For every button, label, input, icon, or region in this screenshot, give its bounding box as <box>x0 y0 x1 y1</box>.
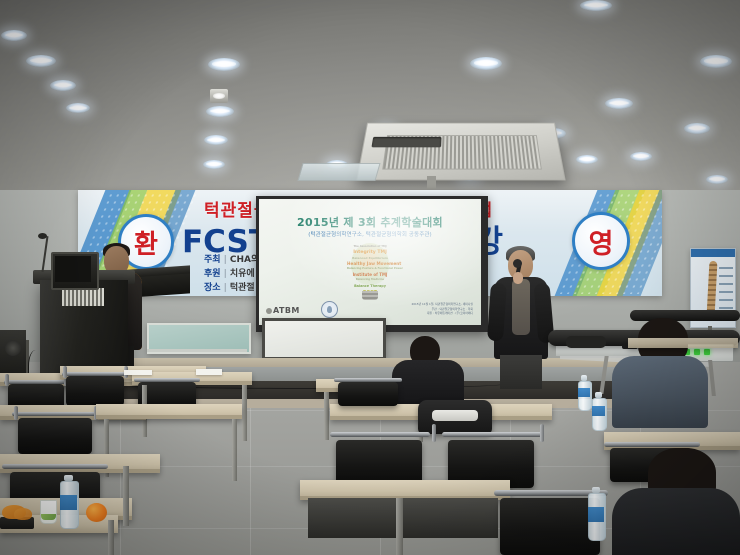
banner-meta-sep: | <box>224 283 227 293</box>
ceiling-downlight <box>700 55 732 68</box>
banner-meta-row: 후원|치유에 <box>204 266 255 279</box>
bottle-cap <box>595 392 602 398</box>
ceiling-downlight <box>206 106 234 117</box>
chair-rail <box>4 380 68 384</box>
desk-leg <box>108 520 114 555</box>
banner-meta-value: 턱관절 <box>230 283 255 293</box>
water-bottle <box>588 487 604 539</box>
banner-meta-value: CHA의 <box>230 255 259 265</box>
water-bottle <box>578 375 590 408</box>
ceiling-downlight <box>630 152 652 161</box>
slide-surface: 2015년 제 3회 추계학술대회 (턱관절균형의학연구소, 턱관절균형의학회 … <box>259 199 481 325</box>
water-bottle <box>60 475 77 527</box>
bottle-label <box>592 406 605 417</box>
poster-label-line <box>719 267 733 269</box>
chair-rail <box>12 412 98 416</box>
water-bottle <box>592 392 605 428</box>
chair-post <box>432 424 436 442</box>
desk-leg <box>232 419 237 481</box>
spine-illustration-icon <box>707 261 718 317</box>
poster-label-line <box>719 291 733 293</box>
banner-meta-key: 주최 <box>204 255 221 265</box>
poster-label-line <box>719 299 733 301</box>
chair-rail <box>62 372 128 376</box>
desk-leg <box>396 498 403 555</box>
chair-rail <box>2 464 108 469</box>
chair-rail <box>334 378 402 382</box>
bottle-cap <box>592 487 601 493</box>
chair-back <box>18 418 92 454</box>
bottle-cap <box>581 375 588 381</box>
speaker-cone-icon <box>5 340 21 356</box>
orange-fruit <box>86 503 107 522</box>
ceiling-downlight <box>203 160 225 169</box>
chair-post <box>14 406 18 420</box>
ac-vane <box>371 137 441 147</box>
banner-meta-row: 장소|턱관절 <box>204 280 255 293</box>
bottle-label <box>588 507 604 523</box>
podium-monitor-screen <box>55 256 91 282</box>
ceiling-downlight <box>1 30 27 41</box>
ceiling-downlight <box>208 58 240 71</box>
banner-meta-value: 치유에 <box>230 269 255 279</box>
paper-sheet <box>124 370 152 375</box>
treatment-table-segment <box>566 336 606 348</box>
podium-front-panel <box>62 288 104 306</box>
desk-leg <box>324 392 329 440</box>
status-led <box>704 349 710 355</box>
projection-screen: 2015년 제 3회 추계학술대회 (턱관절균형의학연구소, 턱관절균형의학회 … <box>256 196 488 332</box>
ceiling-downlight <box>576 155 598 164</box>
bottle-cap <box>64 475 74 481</box>
poster-header-bar <box>691 249 735 257</box>
banner-right-circle-emblem: 영 <box>572 212 630 270</box>
poster-label-line <box>719 307 733 309</box>
chair-post <box>540 424 544 442</box>
banner-meta-key: 장소 <box>204 283 221 293</box>
podium-microphone-head <box>38 233 47 239</box>
ceiling-downlight <box>706 175 728 184</box>
microphone-head <box>513 259 522 268</box>
speaker-sweater <box>512 279 530 335</box>
audience-body-foreground <box>612 488 740 555</box>
ceiling-downlight <box>50 80 76 91</box>
desk <box>300 480 510 500</box>
chair-rail <box>134 378 200 382</box>
status-led <box>694 349 700 355</box>
desk <box>96 404 242 419</box>
ceiling-downlight <box>605 98 633 109</box>
chair-rail <box>442 432 542 437</box>
ceiling-downlight <box>580 0 612 11</box>
paper-cup <box>40 500 57 524</box>
screen-glare <box>259 199 481 325</box>
ceiling-downlight <box>204 135 228 145</box>
chair-back <box>500 498 600 555</box>
ceiling-downlight <box>26 55 56 67</box>
chair-rail <box>330 432 430 437</box>
audience-body-blue-shirt <box>612 356 708 428</box>
chair-back <box>338 382 398 406</box>
poster-label-line <box>719 283 733 285</box>
speaker-hand <box>513 272 523 284</box>
speaker-legs <box>500 355 542 389</box>
treatment-table-rear <box>630 310 740 321</box>
desk-modesty-panel <box>308 498 498 538</box>
chair-post <box>5 374 9 386</box>
bottle-label <box>60 495 77 511</box>
ceiling-panel <box>297 163 380 181</box>
whiteboard <box>262 318 386 360</box>
paper-sheet <box>196 369 222 375</box>
ceiling-downlight <box>66 103 90 113</box>
backpack-strap <box>432 410 478 421</box>
banner-meta-sep: | <box>224 269 227 279</box>
orange-peel <box>14 508 32 520</box>
ceiling-speaker <box>210 89 228 103</box>
side-desk <box>628 338 738 348</box>
air-conditioner-unit <box>356 123 565 181</box>
chair-post <box>63 366 67 378</box>
poster-label-line <box>719 275 733 277</box>
desk-leg <box>123 466 129 526</box>
banner-meta-row: 주최|CHA의 <box>204 252 259 265</box>
lecture-hall-photo: 환 영 턱관절을 FCST전 요법 특강 의학회 주최|CHA의 후원|치유에 … <box>0 0 740 555</box>
chair-rail <box>604 442 700 447</box>
ceiling-downlight <box>684 123 710 134</box>
banner-meta-sep: | <box>224 255 227 265</box>
bottle-label <box>578 388 590 398</box>
ceiling-downlight <box>470 57 502 70</box>
chalkboard-tray <box>147 349 247 352</box>
desk-leg <box>242 385 247 441</box>
banner-meta-key: 후원 <box>204 269 221 279</box>
chair-back <box>66 376 124 406</box>
